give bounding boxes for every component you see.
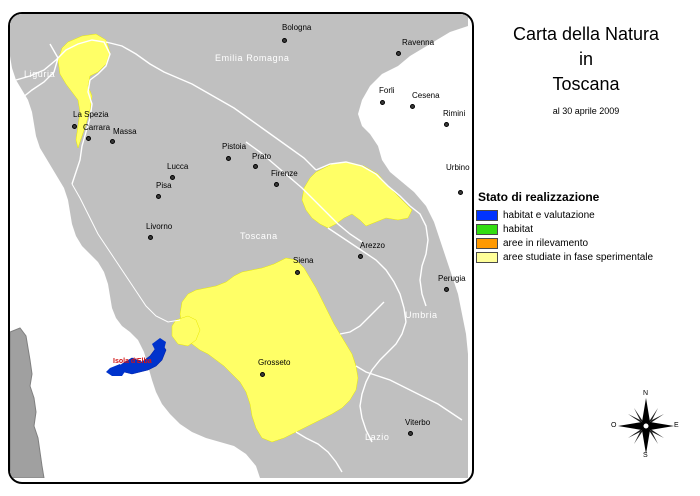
city-dot-lucca <box>170 175 175 180</box>
city-label-bologna: Bologna <box>282 24 311 32</box>
region-label-emilia-romagna: Emilia Romagna <box>215 54 289 63</box>
city-label-ravenna: Ravenna <box>402 39 434 47</box>
city-label-rimini: Rimini <box>443 110 465 118</box>
city-label-livorno: Livorno <box>146 223 172 231</box>
compass-rose: N S E O <box>612 392 680 460</box>
city-dot-ravenna <box>396 51 401 56</box>
map-graphic <box>10 14 468 478</box>
city-dot-cesena <box>410 104 415 109</box>
region-label-marche: Marche <box>444 174 474 183</box>
city-dot-viterbo <box>408 431 413 436</box>
city-dot-massa <box>110 139 115 144</box>
city-dot-forli <box>380 100 385 105</box>
legend-label-habitat-e-valutazione: habitat e valutazione <box>503 210 595 221</box>
map-title-line2: in <box>472 47 700 72</box>
city-label-viterbo: Viterbo <box>405 419 430 427</box>
legend-label-habitat: habitat <box>503 224 533 235</box>
city-label-la-spezia: La Spezia <box>73 111 109 119</box>
city-label-siena: Siena <box>293 257 313 265</box>
city-label-carrara: Carrara <box>83 124 110 132</box>
legend-swatch-habitat <box>476 224 498 235</box>
city-label-perugia: Perugia <box>438 275 466 283</box>
city-label-lucca: Lucca <box>167 163 188 171</box>
map-title-line1: Carta della Natura <box>472 22 700 47</box>
legend-label-aree-studiate: aree studiate in fase sperimentale <box>503 252 653 263</box>
region-label-liguria: Liguria <box>24 70 55 79</box>
city-label-pistoia: Pistoia <box>222 143 246 151</box>
compass-label-south: S <box>643 452 648 459</box>
city-label-firenze: Firenze <box>271 170 298 178</box>
legend-swatch-habitat-e-valutazione <box>476 210 498 221</box>
map-frame: Liguria Emilia Romagna Toscana Marche Um… <box>8 12 474 484</box>
city-label-pisa: Pisa <box>156 182 172 190</box>
city-label-prato: Prato <box>252 153 271 161</box>
legend: Stato di realizzazione habitat e valutaz… <box>476 190 700 266</box>
map-title: Carta della Natura in Toscana <box>472 22 700 97</box>
region-label-toscana: Toscana <box>240 232 278 241</box>
legend-label-aree-in-rilevamento: aree in rilevamento <box>503 238 588 249</box>
map-title-line3: Toscana <box>472 72 700 97</box>
region-label-umbria: Umbria <box>405 311 438 320</box>
city-dot-urbino <box>458 190 463 195</box>
city-dot-bologna <box>282 38 287 43</box>
legend-item-aree-in-rilevamento: aree in rilevamento <box>476 238 700 249</box>
legend-title: Stato di realizzazione <box>478 190 700 204</box>
map-subtitle: al 30 aprile 2009 <box>472 106 700 116</box>
city-dot-carrara <box>86 136 91 141</box>
city-dot-firenze <box>274 182 279 187</box>
city-dot-grosseto <box>260 372 265 377</box>
city-dot-pistoia <box>226 156 231 161</box>
city-dot-livorno <box>148 235 153 240</box>
legend-item-aree-studiate: aree studiate in fase sperimentale <box>476 252 700 263</box>
island-label-elba: Isola d'Elba <box>113 358 152 365</box>
legend-item-habitat: habitat <box>476 224 700 235</box>
legend-item-habitat-e-valutazione: habitat e valutazione <box>476 210 700 221</box>
compass-label-north: N <box>643 390 648 397</box>
city-label-arezzo: Arezzo <box>360 242 385 250</box>
city-label-forli: Forli <box>379 87 395 95</box>
city-label-grosseto: Grosseto <box>258 359 290 367</box>
compass-label-west: O <box>611 422 616 429</box>
city-dot-pisa <box>156 194 161 199</box>
legend-swatch-aree-studiate <box>476 252 498 263</box>
region-label-lazio: Lazio <box>365 433 390 442</box>
city-dot-rimini <box>444 122 449 127</box>
city-dot-perugia <box>444 287 449 292</box>
legend-swatch-aree-in-rilevamento <box>476 238 498 249</box>
city-dot-arezzo <box>358 254 363 259</box>
city-label-massa: Massa <box>113 128 137 136</box>
city-dot-la-spezia <box>72 124 77 129</box>
compass-label-east: E <box>674 422 679 429</box>
compass-rose-icon <box>612 392 680 460</box>
city-dot-prato <box>253 164 258 169</box>
city-dot-siena <box>295 270 300 275</box>
city-label-urbino: Urbino <box>446 164 470 172</box>
city-label-cesena: Cesena <box>412 92 440 100</box>
